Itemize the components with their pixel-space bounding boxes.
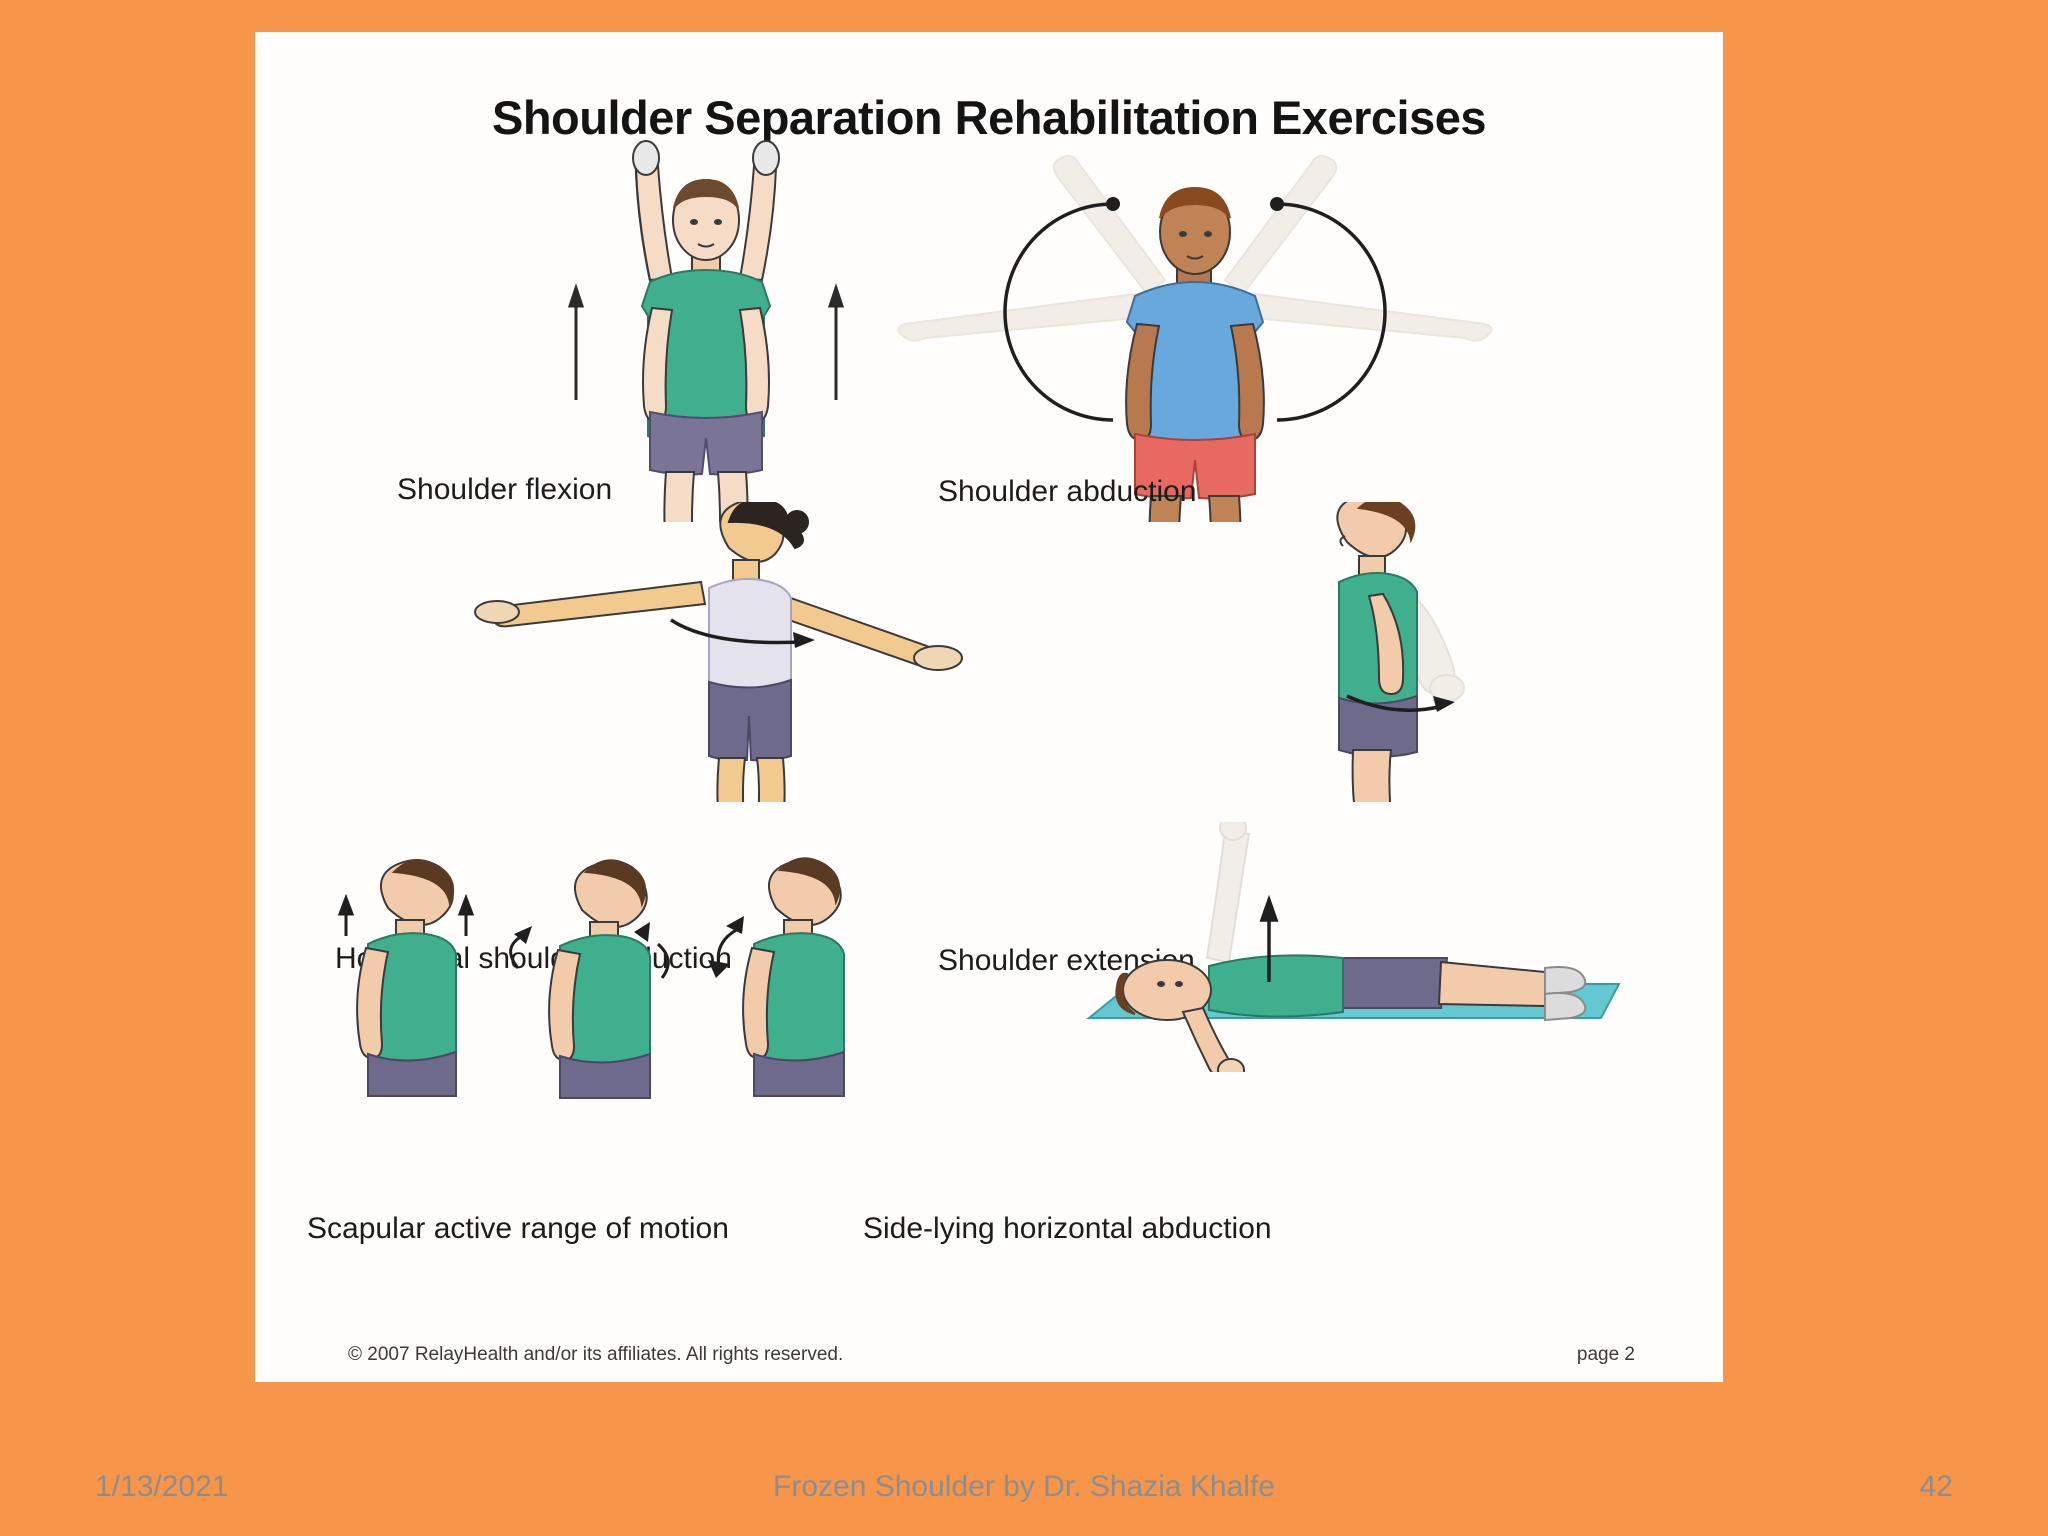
- scapular-panel-b: [549, 860, 650, 1098]
- figure-horizontal-shoulder-abduction: [433, 502, 1033, 802]
- figure-side-lying-horizontal-abduction: [1075, 822, 1635, 1072]
- footer-title: Frozen Shoulder by Dr. Shazia Khalfe: [773, 1470, 1275, 1504]
- caption-scapular-active-range-of-motion: Scapular active range of motion: [307, 1212, 729, 1246]
- horizontal-abduction-arrowhead: [793, 632, 815, 648]
- figure-shoulder-extension: [1255, 502, 1575, 802]
- figure-scapular-active-range-of-motion: [310, 852, 930, 1102]
- figure-shoulder-flexion: [500, 132, 920, 522]
- footer-page-number: 42: [1920, 1470, 1953, 1504]
- presentation-slide: Shoulder Separation Rehabilitation Exerc…: [0, 0, 2048, 1536]
- figure-shoulder-abduction: [895, 142, 1495, 522]
- footer-date: 1/13/2021: [95, 1470, 228, 1504]
- caption-side-lying-horizontal-abduction: Side-lying horizontal abduction: [863, 1212, 1272, 1246]
- scapular-panel-c: [743, 858, 844, 1096]
- handout-card: Shoulder Separation Rehabilitation Exerc…: [255, 32, 1723, 1382]
- handout-title: Shoulder Separation Rehabilitation Exerc…: [255, 90, 1723, 145]
- handout-page-mark: page 2: [1577, 1344, 1635, 1366]
- handout-copyright: © 2007 RelayHealth and/or its affiliates…: [348, 1344, 843, 1366]
- scapular-panel-a: [357, 860, 456, 1096]
